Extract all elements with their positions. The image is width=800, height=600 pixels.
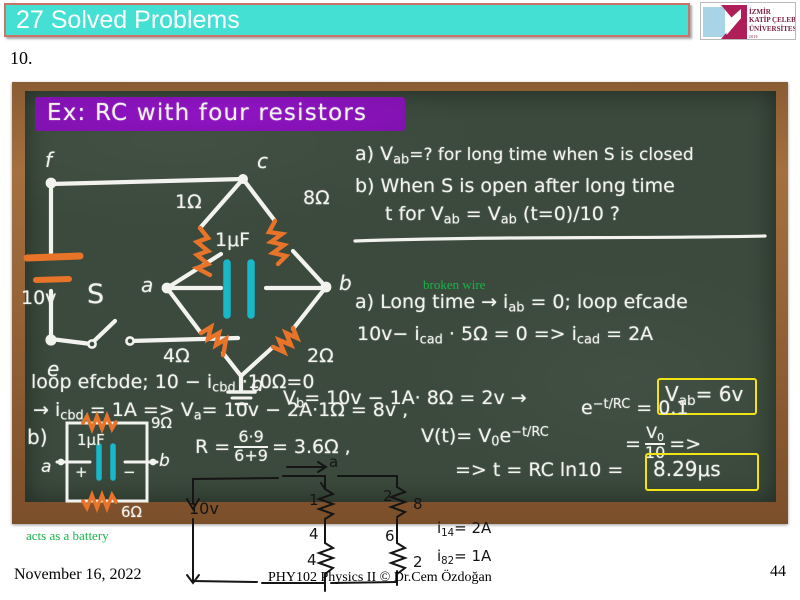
- solution-a-line2: 10v− icad · 5Ω = 0 => icad = 2A: [357, 323, 653, 348]
- mini-node-a: a: [41, 457, 51, 477]
- mini-cap-plus: +: [75, 463, 88, 481]
- sketch-current-1-sub: 14: [441, 528, 454, 539]
- sketch-r5-label: 8: [413, 495, 423, 513]
- sketch-r3-label: 4: [309, 525, 319, 543]
- question-a: a) Vab=? for long time when S is closed: [355, 143, 694, 168]
- solution-a2-end: = 2A: [600, 323, 653, 345]
- question-a-subscript: ab: [393, 153, 409, 168]
- exp-equation: e−t/RC= 0.1: [581, 397, 688, 419]
- blackboard: Ex: RC with four resistors: [25, 91, 776, 502]
- sketch-r2-label: 2: [383, 487, 393, 505]
- circuit-node-label-b: b: [339, 271, 352, 295]
- acts-as-battery-note: acts as a battery: [26, 528, 109, 544]
- voltage-source-label: 10v: [21, 287, 56, 309]
- logo-text: İZMİR KATİP ÇELEBİ ÜNİVERSİTESİ 2010: [749, 8, 796, 40]
- solution-a-prefix: a) Long time → i: [355, 291, 508, 313]
- vt-frac-num-v: V: [646, 423, 657, 442]
- sketch-r3b-label: 4: [307, 551, 317, 569]
- r-eq-prefix: R =: [195, 436, 230, 458]
- vt-expression: V(t)= V0e−t/RC: [421, 425, 549, 450]
- page-title: 27 Solved Problems: [16, 6, 240, 35]
- loop-line2-prefix: → i: [33, 399, 60, 421]
- r-eq-expression: R = 6·9 6+9 = 3.6Ω ,: [195, 429, 351, 465]
- resistor-label-1ohm: 1Ω: [175, 191, 202, 213]
- slide-canvas: 27 Solved Problems İZMİR KATİP ÇELEBİ ÜN…: [0, 0, 800, 600]
- r-eq-post: = 3.6Ω ,: [272, 436, 351, 458]
- resistor-label-8ohm: 8Ω: [303, 187, 330, 209]
- question-b-sub2: ab: [501, 213, 517, 228]
- footer-page-number: 44: [770, 563, 786, 581]
- loop-line1: loop efcbde; 10 − icbd ·10Ω=0: [31, 371, 314, 396]
- question-b-prefix: t for V: [385, 203, 444, 225]
- sketch-r6-label: 2: [413, 553, 423, 571]
- sketch-source-label: 10v: [189, 499, 219, 518]
- vb-prefix: V: [283, 387, 296, 409]
- example-title: Ex: RC with four resistors: [47, 100, 367, 126]
- circuit-node-label-f: f: [45, 148, 52, 172]
- vt-prefix: V(t)= V: [421, 425, 491, 447]
- sketch-current-1-value: = 2A: [454, 519, 491, 537]
- vab-result-end: = 6v: [696, 382, 744, 406]
- loop-line2-sub: cbd: [60, 409, 83, 424]
- capacitor-label: 1μF: [215, 229, 250, 251]
- question-b-line1: b) When S is open after long time: [355, 175, 675, 197]
- solution-a-post: = 0; loop efcade: [524, 291, 687, 313]
- question-b-mid: = V: [460, 203, 501, 225]
- solution-a-sub: ab: [508, 301, 524, 316]
- sketch-current-2: i82= 1A: [437, 547, 491, 567]
- logo-line-4: 2010: [749, 33, 796, 40]
- resistor-label-4ohm: 4Ω: [163, 345, 190, 367]
- vt-arrow: =>: [669, 433, 701, 455]
- loop-line2-sub2: a: [194, 409, 202, 424]
- exp-value: = 0.1: [636, 397, 688, 419]
- r-eq-fraction: 6·9 6+9: [234, 429, 268, 465]
- question-b-post: (t=0)/10 ?: [517, 203, 620, 225]
- r-eq-denominator: 6+9: [234, 446, 268, 465]
- sketch-current-1: i14= 2A: [437, 519, 491, 539]
- vt-frac-num-sub: 0: [657, 431, 664, 444]
- mini-capacitor-label: 1μF: [77, 431, 105, 449]
- switch-label: S: [87, 279, 104, 310]
- mini-cap-minus: −: [123, 463, 136, 481]
- footer-date: November 16, 2022: [14, 566, 142, 584]
- item-number: 10.: [10, 48, 33, 69]
- mini-resistor-bottom-label: 6Ω: [121, 503, 142, 521]
- exp-e: e: [581, 397, 593, 419]
- loop-line1-prefix: loop efcbde; 10 − i: [31, 371, 212, 393]
- solution-a-line1: a) Long time → iab = 0; loop efcade: [355, 291, 688, 316]
- solution-a2-sub: cad: [420, 333, 443, 348]
- solution-a2-prefix: 10v− i: [357, 323, 420, 345]
- solution-b-label: b): [27, 425, 48, 449]
- question-a-text: =? for long time when S is closed: [409, 145, 693, 165]
- exp-exponent: −t/RC: [593, 397, 631, 412]
- vt-frac-num: V0: [645, 425, 665, 443]
- vb-sub: b: [296, 397, 304, 412]
- solution-a2-sub2: cad: [577, 333, 600, 348]
- vb-expression: Vb= 10v − 1A· 8Ω = 2v →: [283, 387, 527, 412]
- slide-title-bar: 27 Solved Problems: [4, 3, 690, 37]
- mini-node-b: b: [159, 451, 170, 471]
- final-answer-expression: => t = RC ln10 =: [455, 459, 623, 481]
- sketch-r4-label: 6: [385, 527, 395, 545]
- vt-e: e: [499, 425, 511, 447]
- loop-line2-mid: = 1A => V: [84, 399, 194, 421]
- university-logo: İZMİR KATİP ÇELEBİ ÜNİVERSİTESİ 2010: [700, 2, 796, 40]
- logo-blue-block: [703, 7, 725, 37]
- question-b-line2: t for Vab = Vab (t=0)/10 ?: [385, 203, 620, 228]
- mini-resistor-top-label: 9Ω: [151, 414, 172, 432]
- logo-line-3: ÜNİVERSİTESİ: [749, 25, 796, 33]
- sketch-current-2-sub: 82: [441, 556, 454, 567]
- circuit-node-label-c: c: [257, 149, 268, 173]
- vb-post: = 10v − 1A· 8Ω = 2v →: [304, 387, 526, 409]
- sketch-r1-label: 1: [309, 491, 319, 509]
- question-a-prefix: a) V: [355, 143, 393, 165]
- sketch-node-a-label: a: [329, 453, 338, 471]
- time-result: 8.29μs: [653, 457, 721, 481]
- vt-exponent: −t/RC: [511, 425, 549, 440]
- loop-line1-sub: cbd: [212, 381, 235, 396]
- vt-equals: =: [625, 433, 641, 455]
- logo-line-1: İZMİR: [749, 8, 796, 16]
- r-eq-numerator: 6·9: [234, 429, 268, 446]
- logo-line-2: KATİP ÇELEBİ: [749, 16, 796, 24]
- circuit-node-label-a: a: [141, 273, 153, 297]
- solution-a2-post: · 5Ω = 0 => i: [443, 323, 577, 345]
- blackboard-frame: Ex: RC with four resistors: [12, 82, 788, 524]
- footer-course-info: PHY102 Physics II © Dr.Cem Özdoğan: [268, 570, 492, 586]
- resistor-label-2ohm: 2Ω: [307, 345, 334, 367]
- question-b-sub1: ab: [444, 213, 460, 228]
- sketch-current-2-value: = 1A: [454, 547, 491, 565]
